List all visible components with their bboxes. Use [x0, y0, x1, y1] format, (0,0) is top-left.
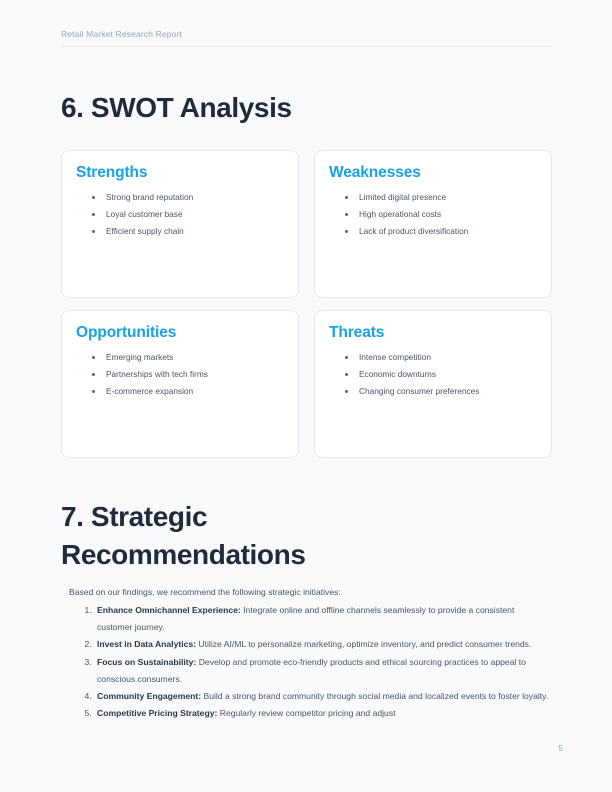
list-item: E-commerce expansion — [104, 383, 284, 400]
recommendation-lead: Invest in Data Analytics: — [97, 639, 196, 649]
list-item: Limited digital presence — [357, 189, 537, 206]
list-item: Efficient supply chain — [104, 223, 284, 240]
swot-section-heading: 6. SWOT Analysis — [61, 89, 552, 127]
recommendation-item: Community Engagement: Build a strong bra… — [94, 688, 552, 705]
recommendation-item: Enhance Omnichannel Experience: Integrat… — [94, 602, 552, 636]
list-item: Intense competition — [357, 349, 537, 366]
document-page: Retail Market Research Report 6. SWOT An… — [0, 0, 612, 792]
list-item: Lack of product diversification — [357, 223, 537, 240]
swot-grid: Strengths Strong brand reputation Loyal … — [61, 150, 552, 458]
recommendation-lead: Focus on Sustainability: — [97, 657, 196, 667]
swot-card-strengths: Strengths Strong brand reputation Loyal … — [61, 150, 299, 298]
recommendation-lead: Community Engagement: — [97, 691, 201, 701]
swot-card-list: Emerging markets Partnerships with tech … — [76, 349, 284, 400]
recommendations-list: Enhance Omnichannel Experience: Integrat… — [61, 602, 552, 722]
recommendation-lead: Enhance Omnichannel Experience: — [97, 605, 241, 615]
page-number: 5 — [559, 743, 563, 754]
header-divider — [61, 46, 552, 47]
swot-card-threats: Threats Intense competition Economic dow… — [314, 310, 552, 458]
strategic-section-heading: 7. Strategic Recommendations — [61, 498, 391, 574]
list-item: Partnerships with tech firms — [104, 366, 284, 383]
swot-card-list: Strong brand reputation Loyal customer b… — [76, 189, 284, 240]
recommendations-intro: Based on our findings, we recommend the … — [61, 585, 552, 600]
recommendation-item: Focus on Sustainability: Develop and pro… — [94, 654, 552, 688]
swot-card-title: Opportunities — [76, 323, 284, 343]
swot-card-weaknesses: Weaknesses Limited digital presence High… — [314, 150, 552, 298]
swot-card-opportunities: Opportunities Emerging markets Partnersh… — [61, 310, 299, 458]
document-header: Retail Market Research Report — [61, 28, 552, 47]
list-item: Changing consumer preferences — [357, 383, 537, 400]
recommendation-text: Utilize AI/ML to personalize marketing, … — [196, 639, 531, 649]
swot-card-title: Strengths — [76, 163, 284, 183]
swot-card-title: Weaknesses — [329, 163, 537, 183]
strategic-recommendations: Based on our findings, we recommend the … — [61, 585, 552, 722]
running-title: Retail Market Research Report — [61, 28, 552, 40]
list-item: Strong brand reputation — [104, 189, 284, 206]
list-item: Loyal customer base — [104, 206, 284, 223]
list-item: Economic downturns — [357, 366, 537, 383]
recommendation-lead: Competitive Pricing Strategy: — [97, 708, 217, 718]
recommendation-text: Build a strong brand community through s… — [201, 691, 548, 701]
recommendation-item: Invest in Data Analytics: Utilize AI/ML … — [94, 636, 552, 653]
swot-card-list: Limited digital presence High operationa… — [329, 189, 537, 240]
list-item: Emerging markets — [104, 349, 284, 366]
recommendation-text: Regularly review competitor pricing and … — [217, 708, 395, 718]
list-item: High operational costs — [357, 206, 537, 223]
swot-card-title: Threats — [329, 323, 537, 343]
recommendation-item: Competitive Pricing Strategy: Regularly … — [94, 705, 552, 722]
swot-card-list: Intense competition Economic downturns C… — [329, 349, 537, 400]
